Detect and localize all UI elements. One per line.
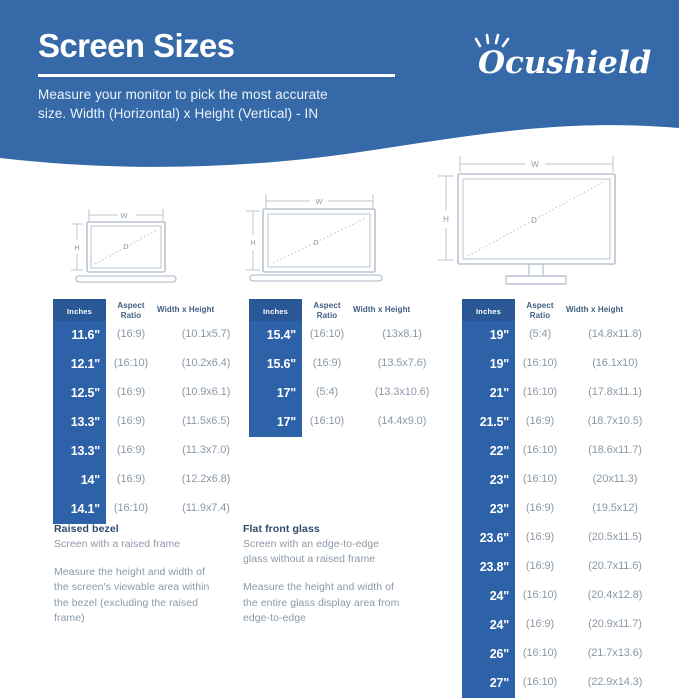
cell-aspect-ratio: (16:10) (516, 647, 564, 659)
cell-inches: 14" (53, 473, 100, 487)
cell-aspect-ratio: (16:9) (516, 560, 564, 572)
cell-width-height: (20x11.3) (565, 473, 665, 485)
note-subtitle-line: glass without a raised frame (243, 553, 375, 565)
cell-inches: 27" (462, 676, 509, 690)
cell-width-height: (10.1x5.7) (156, 328, 256, 340)
cell-width-height: (13.3x10.6) (352, 386, 452, 398)
width-label: W (531, 160, 539, 169)
column-header-width-height: Width x Height (566, 305, 662, 315)
cell-width-height: (11.5x6.5) (156, 415, 256, 427)
cell-inches: 23.8" (462, 560, 509, 574)
width-label: W (315, 197, 323, 206)
size-table-small-laptops: InchesAspectRatioWidth x Height11.6"(16:… (53, 299, 243, 524)
column-header-width-height: Width x Height (157, 305, 253, 315)
cell-aspect-ratio: (16:10) (107, 357, 155, 369)
note-flat-front-glass: Flat front glass Screen with an edge-to-… (243, 523, 433, 626)
note-body-line: the entire glass display area from (243, 597, 399, 609)
cell-inches: 12.1" (53, 357, 100, 371)
cell-inches: 14.1" (53, 502, 100, 516)
cell-aspect-ratio: (16:9) (107, 444, 155, 456)
diagonal-label: D (313, 238, 319, 247)
subtitle-line-2: size. Width (Horizontal) x Height (Verti… (38, 104, 318, 123)
subtitle-line-1: Measure your monitor to pick the most ac… (38, 85, 328, 104)
cell-width-height: (20.9x11.7) (565, 618, 665, 630)
cell-aspect-ratio: (16:10) (516, 357, 564, 369)
cell-aspect-ratio: (16:9) (107, 473, 155, 485)
cell-aspect-ratio: (16:9) (107, 328, 155, 340)
cell-width-height: (13x8.1) (352, 328, 452, 340)
cell-inches: 24" (462, 618, 509, 632)
note-body-line: frame) (54, 612, 85, 624)
cell-aspect-ratio: (16:9) (516, 618, 564, 630)
note-subtitle: Screen with a raised frame (54, 537, 234, 552)
note-subtitle-line: Screen with an edge-to-edge (243, 538, 379, 550)
cell-inches: 23" (462, 502, 509, 516)
cell-inches: 19" (462, 357, 509, 371)
cell-inches: 19" (462, 328, 509, 342)
cell-width-height: (14.4x9.0) (352, 415, 452, 427)
cell-aspect-ratio: (16:9) (107, 415, 155, 427)
cell-aspect-ratio: (16:10) (303, 328, 351, 340)
cell-aspect-ratio: (16:9) (303, 357, 351, 369)
cell-width-height: (10.2x6.4) (156, 357, 256, 369)
column-header-inches: Inches (53, 307, 106, 316)
cell-aspect-ratio: (16:10) (516, 386, 564, 398)
cell-width-height: (20.4x12.8) (565, 589, 665, 601)
column-header-aspect-ratio: AspectRatio (109, 301, 153, 321)
diagram-monitor-large: W H D (428, 148, 638, 288)
cell-inches: 21" (462, 386, 509, 400)
cell-aspect-ratio: (16:9) (516, 502, 564, 514)
diagram-laptop-medium: W H D (238, 184, 394, 284)
note-body-line: the bezel (excluding the raised (54, 597, 198, 609)
cell-width-height: (18.6x11.7) (565, 444, 665, 456)
height-label: H (443, 215, 449, 224)
note-raised-bezel: Raised bezel Screen with a raised frame … (54, 523, 234, 626)
cell-width-height: (14.8x11.8) (565, 328, 665, 340)
cell-width-height: (12.2x6.8) (156, 473, 256, 485)
cell-width-height: (22.9x14.3) (565, 676, 665, 688)
cell-inches: 24" (462, 589, 509, 603)
cell-inches: 11.6" (53, 328, 100, 342)
column-header-width-height: Width x Height (353, 305, 449, 315)
cell-aspect-ratio: (16:9) (516, 531, 564, 543)
cell-inches: 15.4" (249, 328, 296, 342)
cell-inches: 22" (462, 444, 509, 458)
cell-width-height: (18.7x10.5) (565, 415, 665, 427)
brand-logo: Ocushield (470, 33, 650, 89)
title-divider (38, 74, 395, 77)
cell-width-height: (19.5x12) (565, 502, 665, 514)
cell-width-height: (11.3x7.0) (156, 444, 256, 456)
note-body-line: the screen's viewable area within (54, 581, 209, 593)
column-header-inches: Inches (249, 307, 302, 316)
cell-inches: 23" (462, 473, 509, 487)
cell-width-height: (20.7x11.6) (565, 560, 665, 572)
diagram-laptop-small: W H D (62, 198, 186, 284)
diagonal-label: D (123, 242, 129, 251)
note-subtitle: Screen with an edge-to-edge glass withou… (243, 537, 433, 567)
cell-aspect-ratio: (16:10) (516, 676, 564, 688)
note-body: Measure the height and width of the scre… (54, 565, 234, 626)
cell-aspect-ratio: (16:10) (516, 473, 564, 485)
cell-aspect-ratio: (16:10) (516, 589, 564, 601)
cell-inches: 23.6" (462, 531, 509, 545)
cell-aspect-ratio: (16:9) (107, 386, 155, 398)
note-body-line: edge-to-edge (243, 612, 306, 624)
size-table-medium-laptops: InchesAspectRatioWidth x Height15.4"(16:… (249, 299, 439, 437)
cell-width-height: (20.5x11.5) (565, 531, 665, 543)
cell-inches: 13.3" (53, 415, 100, 429)
height-label: H (74, 243, 79, 252)
cell-inches: 17" (249, 386, 296, 400)
column-header-inches: Inches (462, 307, 515, 316)
cell-aspect-ratio: (16:10) (303, 415, 351, 427)
cell-width-height: (21.7x13.6) (565, 647, 665, 659)
cell-width-height: (13.5x7.6) (352, 357, 452, 369)
cell-inches: 26" (462, 647, 509, 661)
cell-aspect-ratio: (16:9) (516, 415, 564, 427)
cell-inches: 17" (249, 415, 296, 429)
note-body-line: Measure the height and width of (54, 566, 205, 578)
cell-aspect-ratio: (5:4) (516, 328, 564, 340)
note-body: Measure the height and width of the enti… (243, 580, 433, 626)
width-label: W (120, 211, 128, 220)
page-title: Screen Sizes (38, 29, 234, 62)
height-label: H (250, 238, 255, 247)
cell-inches: 21.5" (462, 415, 509, 429)
size-table-monitors: InchesAspectRatioWidth x Height19"(5:4)(… (462, 299, 652, 698)
logo-wordmark: Ocushield (478, 45, 651, 81)
note-body-line: Measure the height and width of (243, 581, 394, 593)
cell-inches: 15.6" (249, 357, 296, 371)
note-title: Raised bezel (54, 523, 234, 535)
cell-inches: 12.5" (53, 386, 100, 400)
cell-aspect-ratio: (16:10) (516, 444, 564, 456)
cell-width-height: (16.1x10) (565, 357, 665, 369)
note-title: Flat front glass (243, 523, 433, 535)
cell-aspect-ratio: (16:10) (107, 502, 155, 514)
column-header-aspect-ratio: AspectRatio (305, 301, 349, 321)
cell-width-height: (10.9x6.1) (156, 386, 256, 398)
cell-width-height: (11.9x7.4) (156, 502, 256, 514)
column-header-aspect-ratio: AspectRatio (518, 301, 562, 321)
cell-inches: 13.3" (53, 444, 100, 458)
cell-width-height: (17.8x11.1) (565, 386, 665, 398)
cell-aspect-ratio: (5:4) (303, 386, 351, 398)
diagonal-label: D (531, 216, 537, 225)
